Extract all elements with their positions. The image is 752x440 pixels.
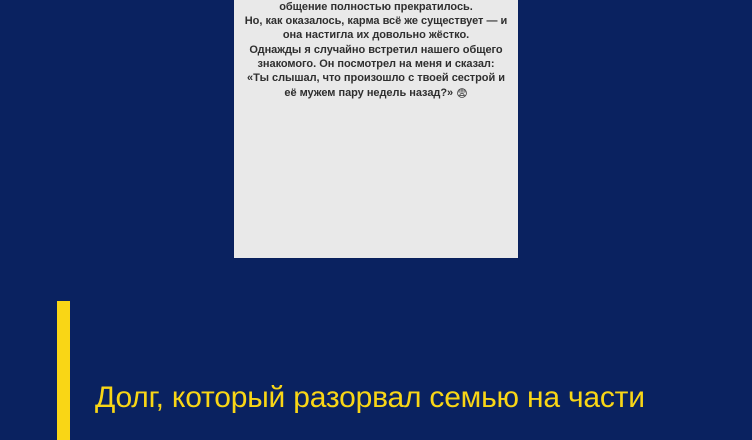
accent-bar xyxy=(57,301,70,440)
slide-canvas: расходы. Когда моё терпение наконец зако… xyxy=(0,0,752,440)
story-paragraph-2: Но, как оказалось, карма всё же существу… xyxy=(244,14,508,43)
page-title: Долг, который разорвал семью на части xyxy=(95,379,735,416)
story-paragraph-1: расходы. Когда моё терпение наконец зако… xyxy=(244,0,508,14)
story-paragraph-4: «Ты слышал, что произошло с твоей сестро… xyxy=(244,71,508,100)
story-paragraph-3: Однажды я случайно встретил нашего общег… xyxy=(244,43,508,72)
story-text-body: расходы. Когда моё терпение наконец зако… xyxy=(244,0,508,100)
fearful-face-emoji: 😨 xyxy=(456,87,467,100)
story-screenshot-card: расходы. Когда моё терпение наконец зако… xyxy=(234,0,518,258)
